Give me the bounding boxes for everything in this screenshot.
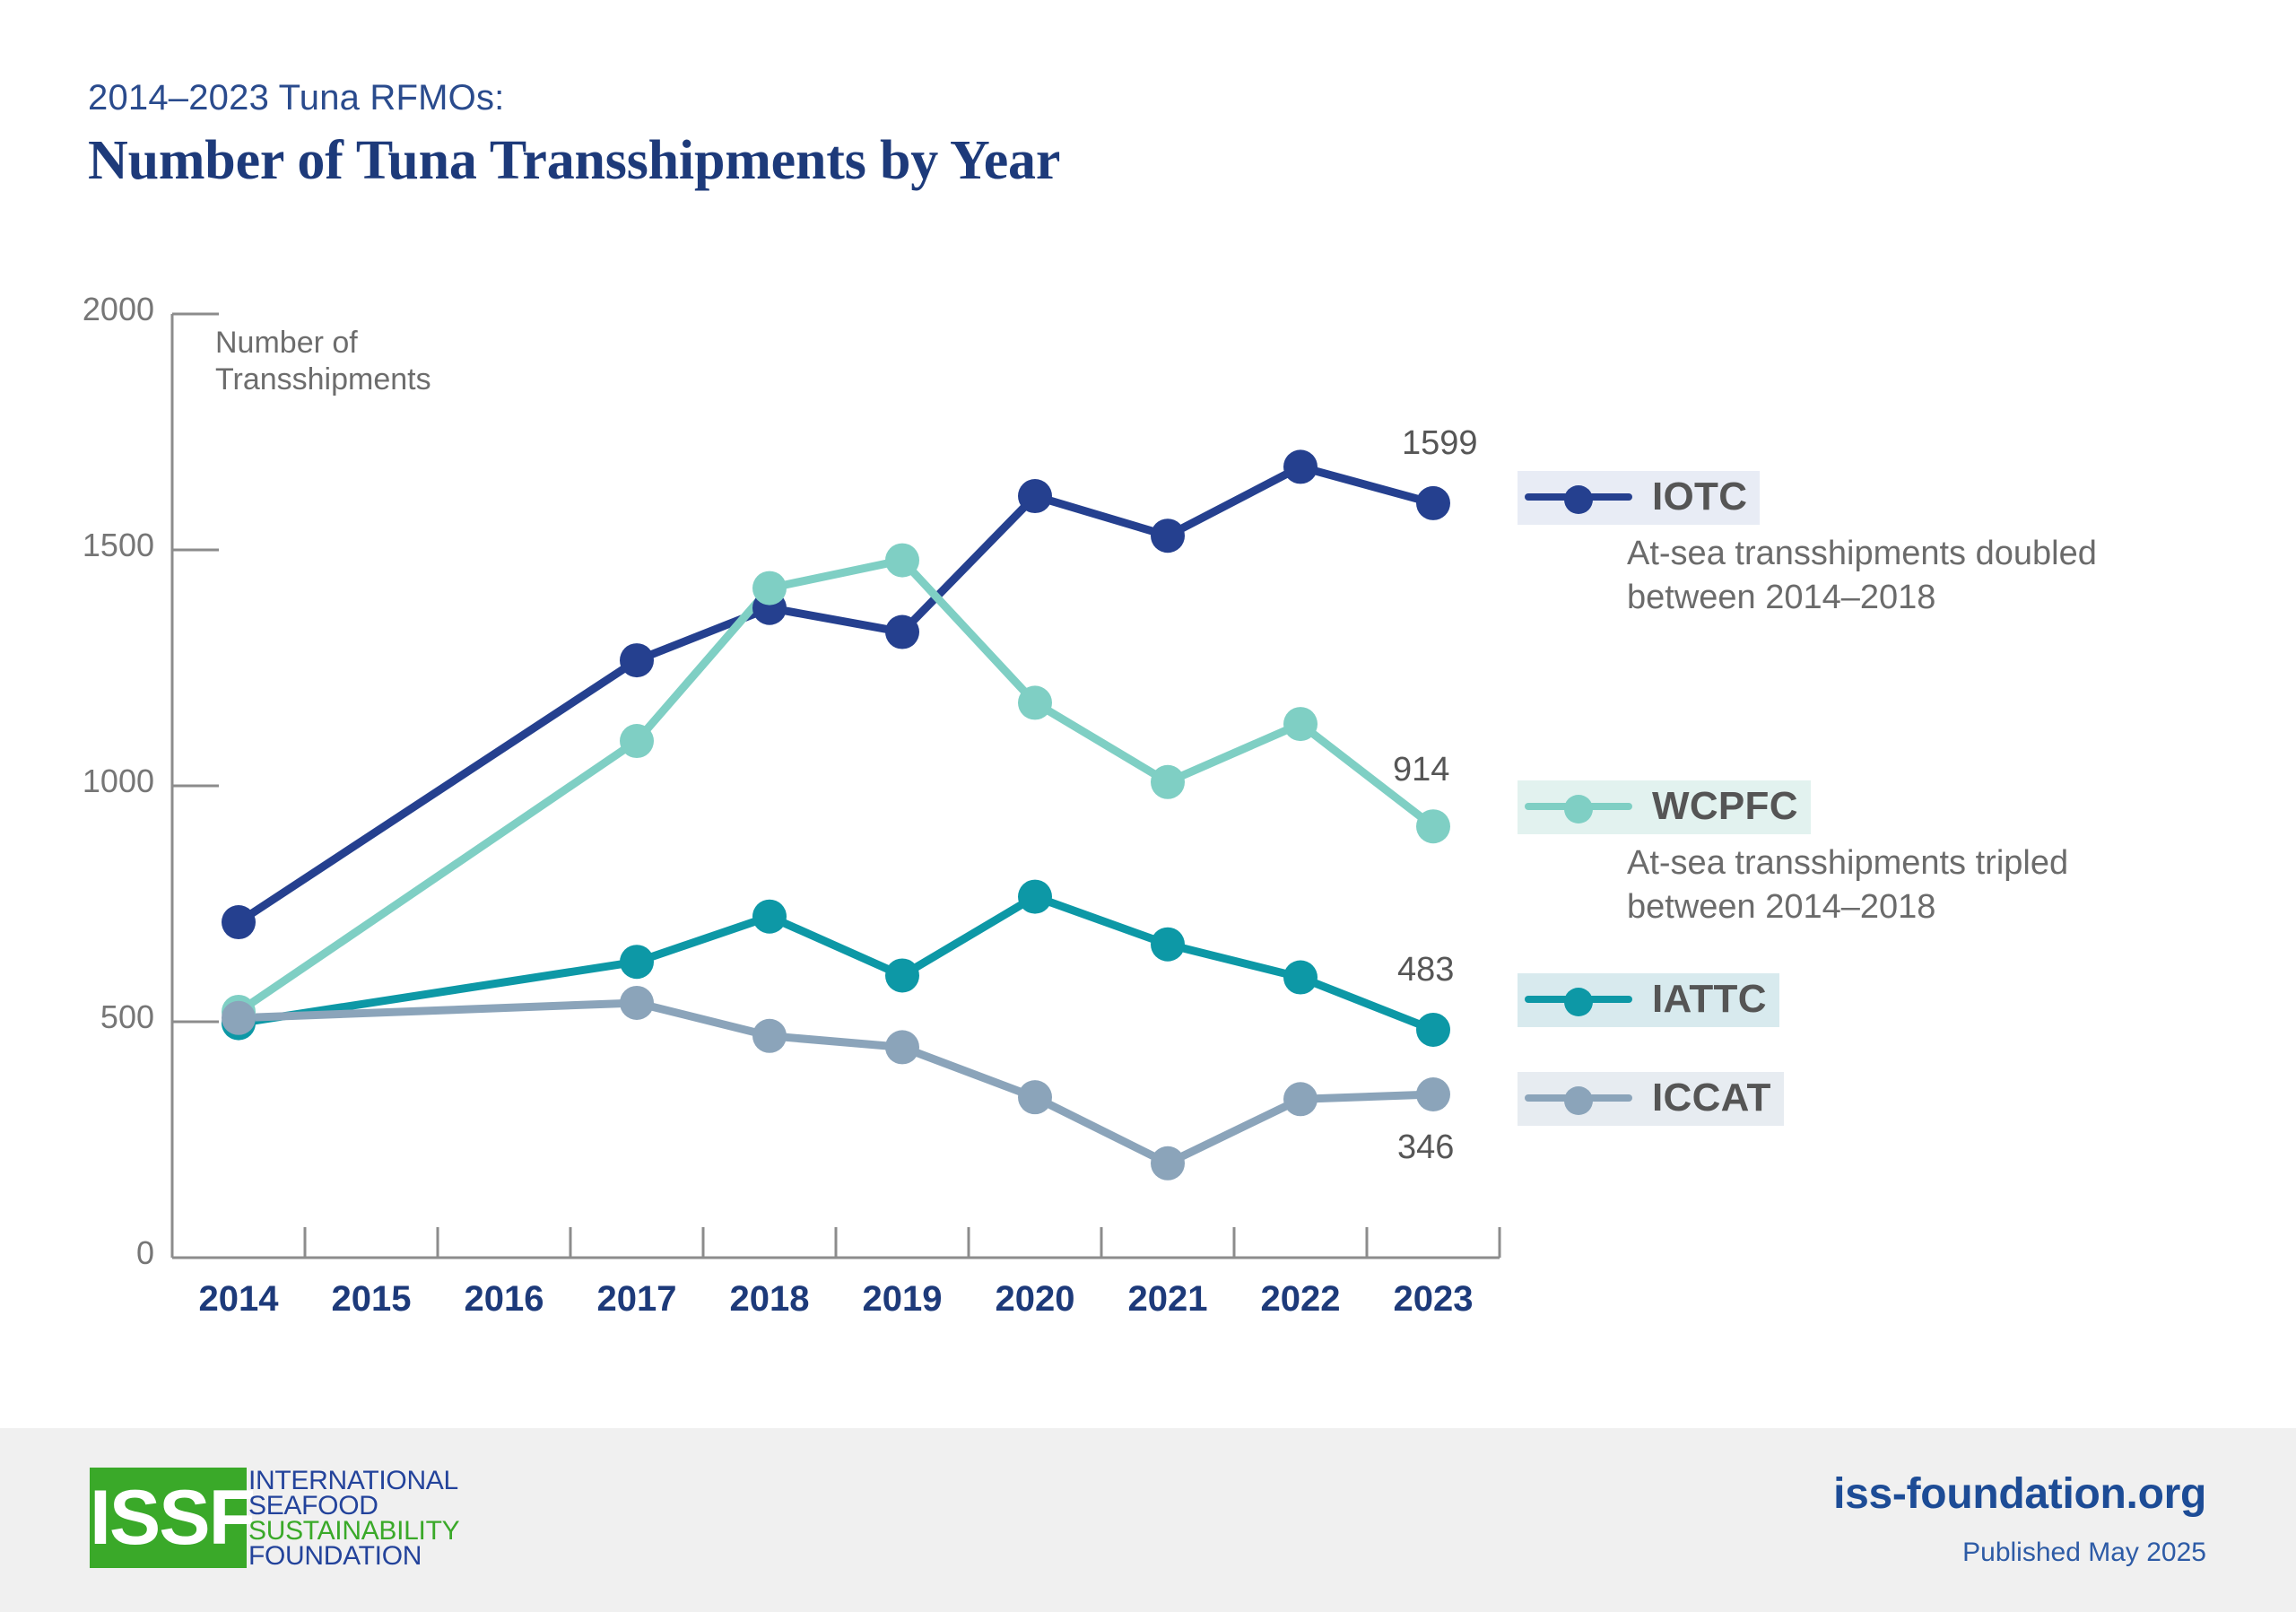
published-date: Published May 2025 — [1962, 1538, 2206, 1568]
data-point-iattc-2021[interactable] — [1151, 928, 1185, 962]
data-point-wcpfc-2022[interactable] — [1283, 707, 1318, 741]
chart-title: Number of Tuna Transshipments by Year — [88, 129, 1523, 193]
data-point-iccat-2018[interactable] — [752, 1019, 787, 1053]
x-tick-label: 2019 — [835, 1279, 970, 1320]
x-tick-label: 2016 — [437, 1279, 571, 1320]
legend-note-iotc: At-sea transshipments doubled between 20… — [1627, 532, 2097, 621]
x-tick-label: 2023 — [1366, 1279, 1500, 1320]
x-tick-label: 2022 — [1233, 1279, 1368, 1320]
data-point-iotc-2023[interactable] — [1416, 486, 1450, 520]
data-point-iotc-2020[interactable] — [1018, 479, 1052, 513]
legend-label-iccat: ICCAT — [1652, 1076, 1771, 1120]
data-point-wcpfc-2018[interactable] — [752, 571, 787, 606]
series-line-iotc — [239, 466, 1433, 922]
x-tick-label: 2018 — [702, 1279, 837, 1320]
data-point-iotc-2019[interactable] — [885, 615, 919, 649]
data-point-iccat-2019[interactable] — [885, 1030, 919, 1064]
data-point-iattc-2019[interactable] — [885, 958, 919, 992]
y-axis-label: Number of Transshipments — [215, 325, 431, 399]
legend-label-iotc: IOTC — [1652, 475, 1747, 519]
data-point-iattc-2023[interactable] — [1416, 1013, 1450, 1047]
chart-area: Number of Transshipments 050010001500200… — [0, 296, 2296, 1310]
legend-block-iattc[interactable]: IATTC — [1518, 973, 1779, 1027]
x-tick-label: 2015 — [304, 1279, 439, 1320]
data-point-iotc-2014[interactable] — [222, 905, 256, 939]
issf-logo-mark: ISSF — [90, 1468, 247, 1568]
data-point-iattc-2022[interactable] — [1283, 961, 1318, 995]
y-tick-label: 0 — [29, 1234, 154, 1272]
footer-bar: ISSF INTERNATIONAL SEAFOOD SUSTAINABILIT… — [0, 1428, 2296, 1612]
chart-subtitle: 2014–2023 Tuna RFMOs: — [88, 77, 1523, 118]
data-point-iattc-2018[interactable] — [752, 900, 787, 934]
legend-item-iattc[interactable]: IATTC — [1518, 973, 1779, 1027]
y-tick-label: 500 — [29, 998, 154, 1036]
x-tick-label: 2020 — [968, 1279, 1102, 1320]
legend-line-marker-icon — [1525, 984, 1632, 1015]
logo-line-sustainability: SUSTAINABILITY — [248, 1519, 459, 1544]
x-tick-label: 2014 — [171, 1279, 306, 1320]
endpoint-label-iattc: 483 — [1397, 951, 1454, 989]
data-point-iccat-2021[interactable] — [1151, 1146, 1185, 1181]
x-tick-label: 2017 — [570, 1279, 704, 1320]
legend-item-wcpfc[interactable]: WCPFC — [1518, 780, 1811, 834]
series-line-iccat — [239, 1003, 1433, 1163]
x-tick-label: 2021 — [1100, 1279, 1235, 1320]
data-point-wcpfc-2023[interactable] — [1416, 809, 1450, 843]
endpoint-label-iccat: 346 — [1397, 1128, 1454, 1167]
data-point-iotc-2022[interactable] — [1283, 449, 1318, 484]
legend-block-iotc[interactable]: IOTCAt-sea transshipments doubled betwee… — [1518, 471, 2097, 621]
data-point-iccat-2023[interactable] — [1416, 1077, 1450, 1111]
chart-header: 2014–2023 Tuna RFMOs: Number of Tuna Tra… — [88, 77, 1523, 193]
logo-line-international: INTERNATIONAL — [248, 1468, 459, 1494]
issf-logo: ISSF INTERNATIONAL SEAFOOD SUSTAINABILIT… — [90, 1468, 459, 1569]
legend-label-iattc: IATTC — [1652, 977, 1767, 1022]
y-tick-label: 1000 — [29, 762, 154, 800]
legend-line-marker-icon — [1525, 482, 1632, 512]
logo-line-seafood: SEAFOOD — [248, 1494, 459, 1519]
data-point-wcpfc-2020[interactable] — [1018, 685, 1052, 719]
data-point-iotc-2017[interactable] — [620, 643, 654, 677]
data-point-wcpfc-2019[interactable] — [885, 544, 919, 578]
issf-logo-wordmark: INTERNATIONAL SEAFOOD SUSTAINABILITY FOU… — [248, 1468, 459, 1569]
legend-block-iccat[interactable]: ICCAT — [1518, 1072, 1784, 1126]
legend-note-wcpfc: At-sea transshipments tripled between 20… — [1627, 841, 2068, 930]
legend-item-iotc[interactable]: IOTC — [1518, 471, 1760, 525]
legend-block-wcpfc[interactable]: WCPFCAt-sea transshipments tripled betwe… — [1518, 780, 2068, 930]
data-point-iccat-2022[interactable] — [1283, 1082, 1318, 1116]
data-point-iccat-2014[interactable] — [222, 1001, 256, 1035]
data-point-iccat-2017[interactable] — [620, 986, 654, 1020]
data-point-iattc-2020[interactable] — [1018, 880, 1052, 914]
website-link[interactable]: iss-foundation.org — [1833, 1469, 2206, 1519]
y-tick-label: 1500 — [29, 527, 154, 564]
legend-label-wcpfc: WCPFC — [1652, 784, 1798, 829]
y-tick-label: 2000 — [29, 291, 154, 328]
endpoint-label-wcpfc: 914 — [1393, 751, 1449, 789]
legend-item-iccat[interactable]: ICCAT — [1518, 1072, 1784, 1126]
data-point-wcpfc-2021[interactable] — [1151, 765, 1185, 799]
logo-line-foundation: FOUNDATION — [248, 1544, 459, 1569]
data-point-iattc-2017[interactable] — [620, 945, 654, 979]
endpoint-label-iotc: 1599 — [1402, 424, 1478, 463]
data-point-iccat-2020[interactable] — [1018, 1080, 1052, 1114]
data-point-iotc-2021[interactable] — [1151, 518, 1185, 553]
legend-line-marker-icon — [1525, 1083, 1632, 1113]
legend-line-marker-icon — [1525, 791, 1632, 822]
data-point-wcpfc-2017[interactable] — [620, 724, 654, 758]
